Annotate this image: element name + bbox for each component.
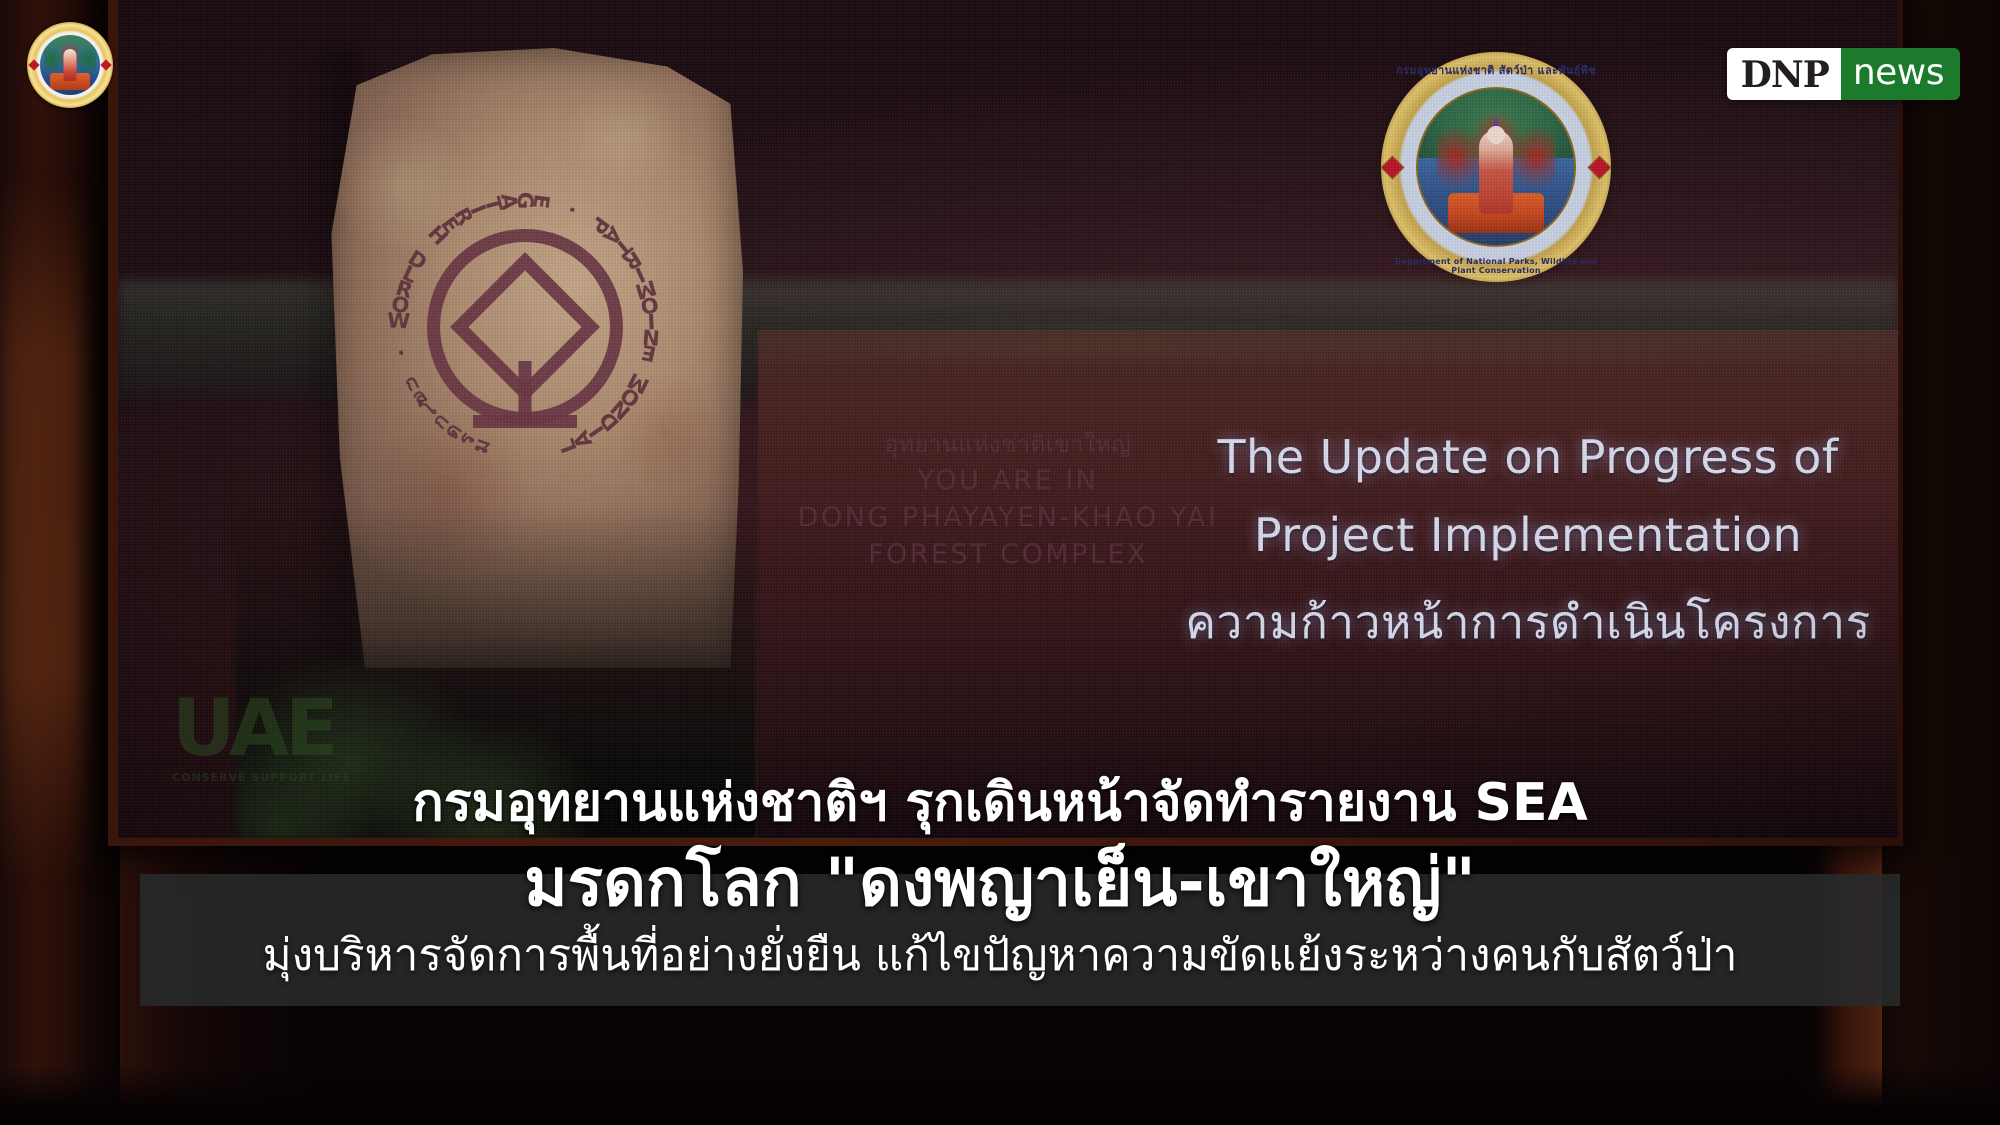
seal-ring-text-english: Department of National Parks, Wildlife a… [1381,257,1611,275]
corner-seal-gem-left [28,59,39,70]
logo-news-text: news [1841,48,1960,100]
seal-gem-left [1380,155,1404,179]
corner-seal-deity-figure [64,49,77,81]
unesco-world-heritage-emblem-icon: มรดกโลก · WORLD HERITAGE · PATRIMOINE MO… [380,182,670,472]
seal-deity-head [1487,126,1505,144]
slide-title-english-line-2: Project Implementation [1158,508,1898,562]
slide-title-thai: ความก้าวหน้าการดำเนินโครงการ [1128,586,1898,659]
slide-title-english-line-1: The Update on Progress of [1158,430,1898,484]
news-broadcast-frame: มรดกโลก · WORLD HERITAGE · PATRIMOINE MO… [0,0,2000,1125]
seal-ring-text-thai: กรมอุทยานแห่งชาติ สัตว์ป่า และพันธุ์พืช [1381,61,1611,79]
seal-inner-medallion [1416,87,1576,247]
emblem-ring-text: มรดกโลก · WORLD HERITAGE · PATRIMOINE MO… [380,182,670,472]
dnp-news-logo-badge: DNP news [1727,48,1960,100]
dnp-department-seal-icon: กรมอุทยานแห่งชาติ สัตว์ป่า และพันธุ์พืช … [1381,52,1611,282]
corner-seal-gem-right [100,59,111,70]
seal-gem-right [1587,155,1611,179]
projection-screen: มรดกโลก · WORLD HERITAGE · PATRIMOINE MO… [118,0,1898,838]
emblem-ring-glyph: E [528,193,554,211]
dnp-department-seal-icon [27,22,113,108]
corner-seal-medallion [40,35,100,95]
emblem-ring-glyph: · [395,340,409,365]
emblem-ring-glyph: · [559,201,585,218]
emblem-ring-glyph: ก [399,365,426,401]
watermark-text: UAE [172,690,372,768]
caption-line-3: มุ่งบริหารจัดการพื้นที่อย่างยั่งยืน แก้ไ… [0,920,2000,990]
logo-dnp-text: DNP [1727,48,1841,100]
emblem-ring-glyph: E [638,339,658,366]
floor-shadow [0,1065,2000,1125]
